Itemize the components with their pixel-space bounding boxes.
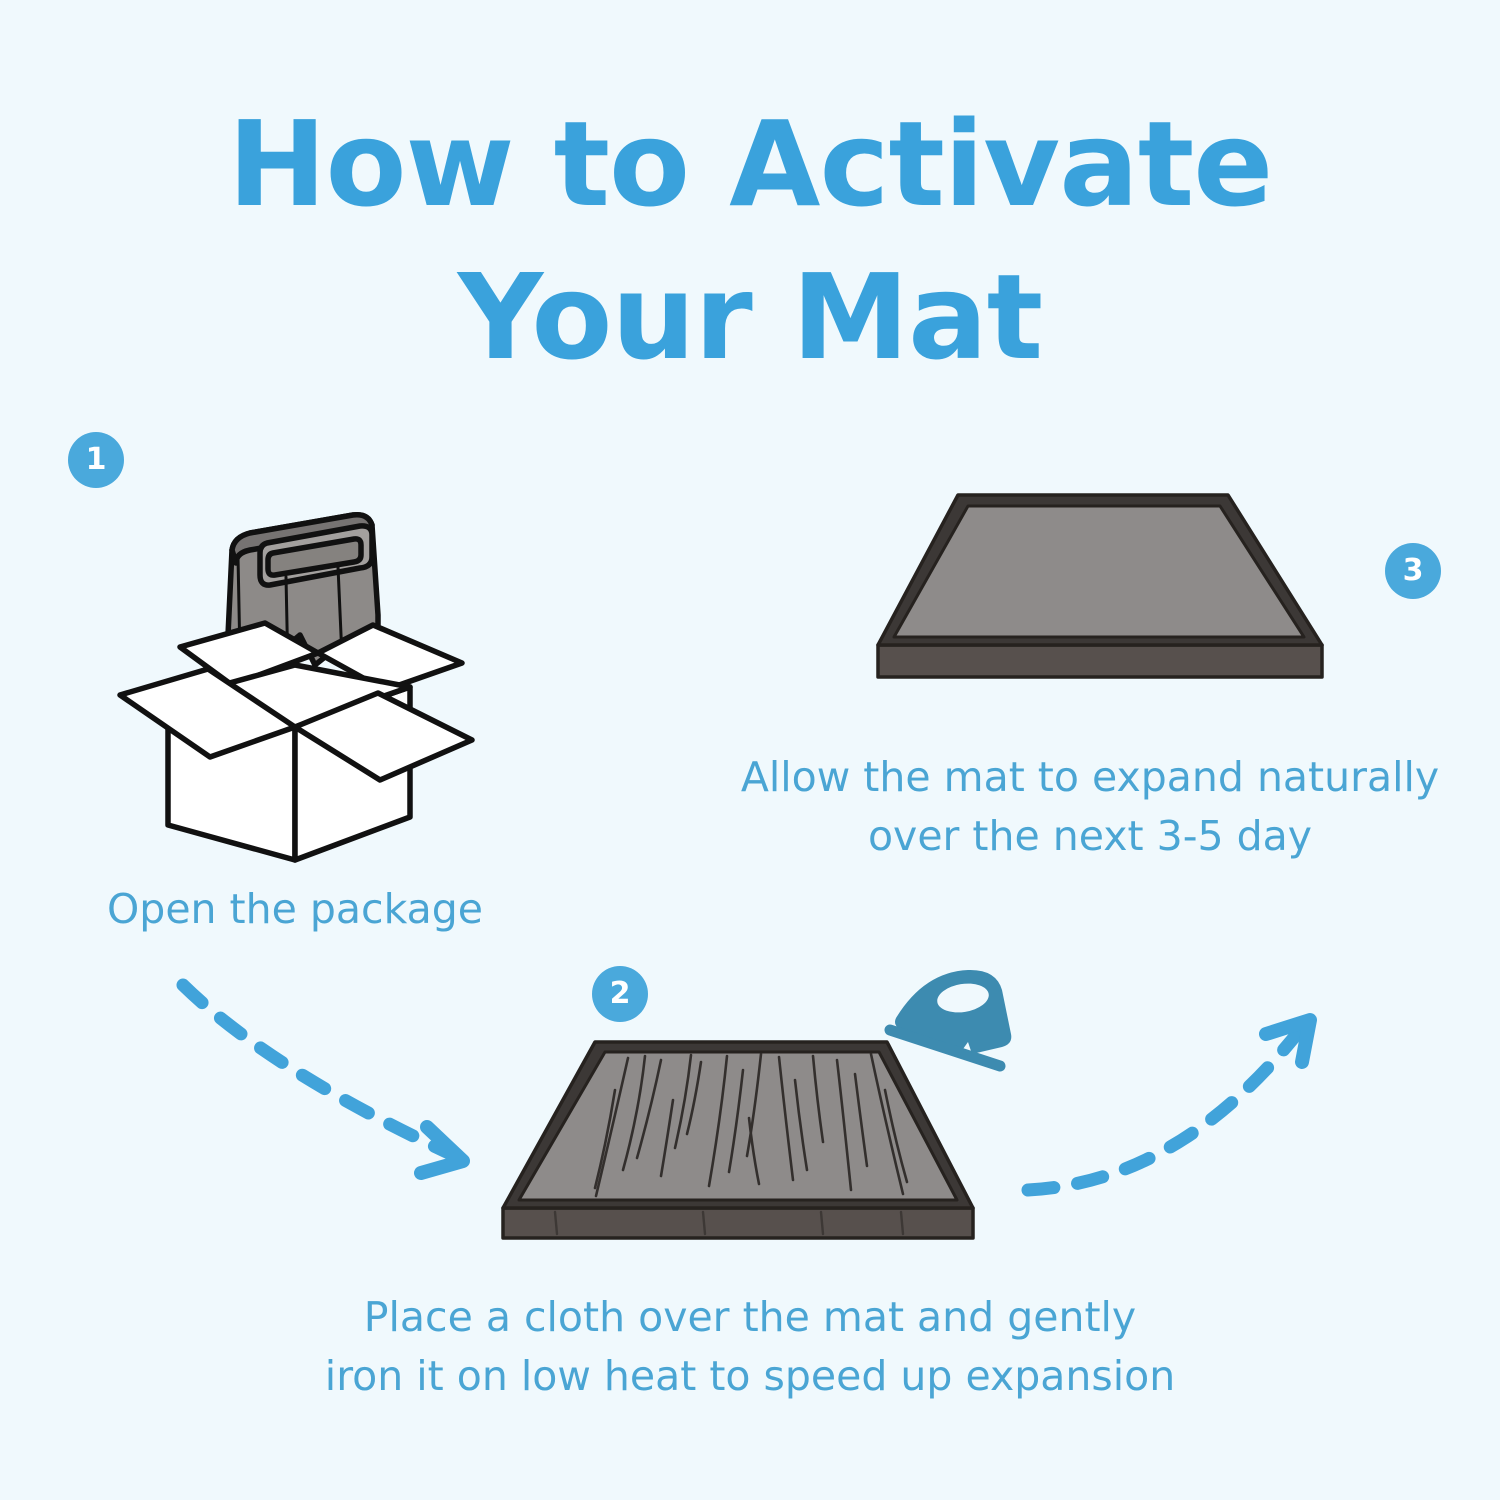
step-1-caption: Open the package [30, 880, 560, 939]
wrinkled-mat-illustration [495, 1030, 1015, 1275]
dashed-arrow-step1-to-step2-icon [175, 975, 495, 1190]
title-line-2: Your Mat [0, 241, 1500, 394]
step-3-caption-line-2: over the next 3-5 day [868, 812, 1312, 860]
step-badge-3: 3 [1385, 543, 1441, 599]
step-3-caption-line-1: Allow the mat to expand naturally [741, 753, 1439, 801]
step-3-caption: Allow the mat to expand naturally over t… [690, 748, 1490, 867]
step-badge-2: 2 [592, 966, 648, 1022]
title-line-1: How to Activate [228, 95, 1273, 233]
page-title: How to Activate Your Mat [0, 88, 1500, 395]
step-2-caption-line-2: iron it on low heat to speed up expansio… [325, 1352, 1175, 1400]
flat-mat-illustration [860, 485, 1350, 700]
step-2-caption: Place a cloth over the mat and gently ir… [255, 1288, 1245, 1407]
dashed-arrow-step2-to-step3-icon [1010, 1000, 1330, 1215]
open-box-illustration [110, 495, 490, 860]
step-badge-1: 1 [68, 432, 124, 488]
step-2-caption-line-1: Place a cloth over the mat and gently [364, 1293, 1136, 1341]
infographic-canvas: How to Activate Your Mat 1 [0, 0, 1500, 1500]
